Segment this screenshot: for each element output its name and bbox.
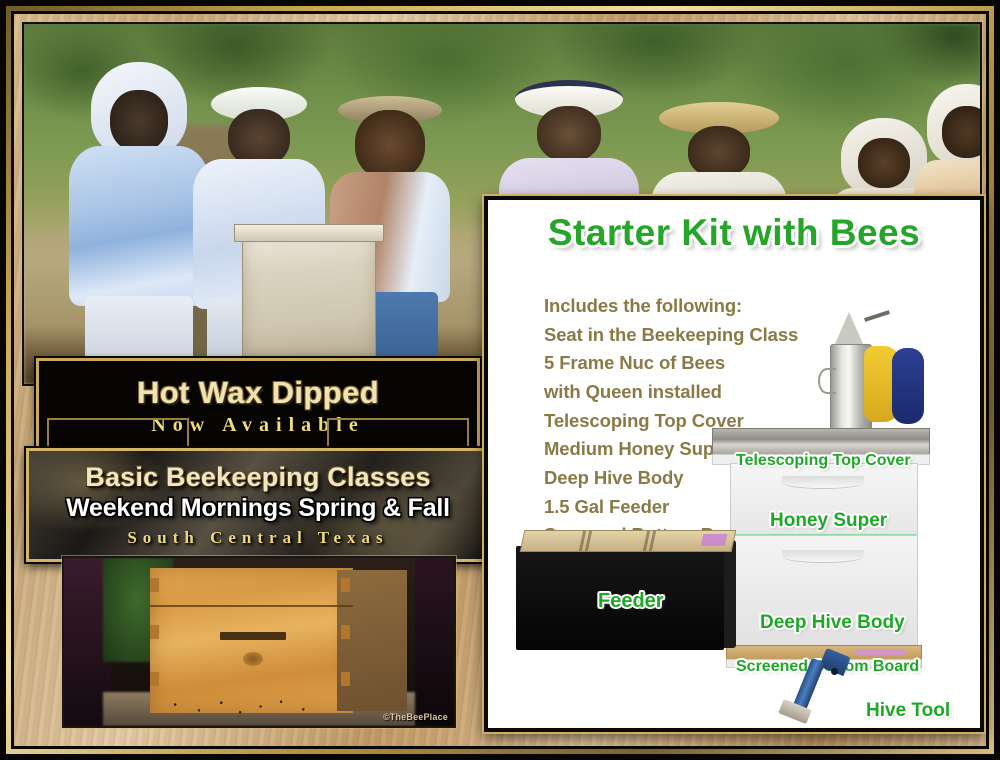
watermark: ©TheBeePlace bbox=[383, 712, 448, 722]
photo-hive-dovetail bbox=[341, 625, 350, 639]
label-honey-super: Honey Super bbox=[770, 510, 887, 532]
beekeeper-veil bbox=[858, 138, 910, 188]
label-feeder: Feeder bbox=[598, 590, 664, 613]
list-item: Seat in the Beekeeping Class bbox=[544, 321, 802, 350]
banner-hot-wax-dipped: Hot Wax Dipped Now Available bbox=[36, 358, 480, 456]
banner-beekeeping-classes: Basic Beekeeping Classes Weekend Morning… bbox=[26, 448, 490, 562]
classes-schedule: Weekend Mornings Spring & Fall bbox=[66, 494, 450, 523]
label-deep-hive-body: Deep Hive Body bbox=[760, 612, 905, 634]
photo-hive-box bbox=[242, 232, 376, 360]
poster: Hot Wax Dipped Now Available Basic Beeke… bbox=[0, 0, 1000, 760]
list-item: Includes the following: bbox=[544, 292, 802, 321]
photo-hive-right-shadow bbox=[415, 558, 454, 726]
smoker-spout bbox=[864, 310, 890, 322]
beekeeper-veil bbox=[942, 106, 982, 158]
list-item: with Queen installed bbox=[544, 378, 802, 407]
photo-hive-entrance bbox=[220, 632, 286, 640]
smoker-illustration bbox=[808, 308, 938, 432]
beekeeper-veil bbox=[355, 110, 425, 180]
smoker-hook bbox=[818, 368, 836, 394]
photo-hive-dovetail bbox=[341, 578, 350, 592]
photo-hive-dovetail bbox=[150, 672, 159, 686]
photo-wooden-hive-box: ©TheBeePlace bbox=[62, 556, 456, 728]
feeder-slat bbox=[585, 531, 592, 551]
starter-kit-title: Starter Kit with Bees bbox=[488, 212, 980, 254]
deep-handhold bbox=[782, 550, 864, 563]
label-hive-tool: Hive Tool bbox=[866, 700, 950, 722]
feeder-edge bbox=[724, 540, 736, 648]
super-handhold bbox=[782, 476, 864, 489]
hot-wax-headline: Hot Wax Dipped bbox=[137, 377, 379, 410]
beekeeper-veil bbox=[537, 106, 601, 162]
beekeeper-veil bbox=[688, 126, 750, 178]
photo-hive-dovetail bbox=[150, 625, 159, 639]
smoker-cone bbox=[834, 312, 864, 346]
label-telescoping-top-cover: Telescoping Top Cover bbox=[736, 452, 911, 470]
photo-hive-dovetail bbox=[150, 578, 159, 592]
photo-hive-bees bbox=[158, 697, 330, 715]
feeder-accent bbox=[701, 534, 728, 546]
classes-location: South Central Texas bbox=[127, 528, 388, 548]
smoker-bellows-blue bbox=[892, 348, 924, 424]
photo-hive-seam bbox=[150, 605, 353, 607]
photo-hive-box-lid bbox=[234, 224, 384, 242]
starter-kit-panel: Starter Kit with Bees Includes the follo… bbox=[484, 196, 984, 732]
classes-headline: Basic Beekeeping Classes bbox=[85, 462, 431, 493]
beekeeper-veil bbox=[110, 90, 168, 152]
list-item: 5 Frame Nuc of Bees bbox=[544, 349, 802, 378]
banner-notch-right bbox=[327, 418, 469, 450]
photo-hive-dovetail bbox=[341, 672, 350, 686]
feeder-slat bbox=[649, 531, 656, 551]
beekeeper-suit bbox=[69, 146, 209, 306]
photo-hive-body bbox=[150, 568, 353, 712]
banner-notch-left bbox=[47, 418, 189, 450]
